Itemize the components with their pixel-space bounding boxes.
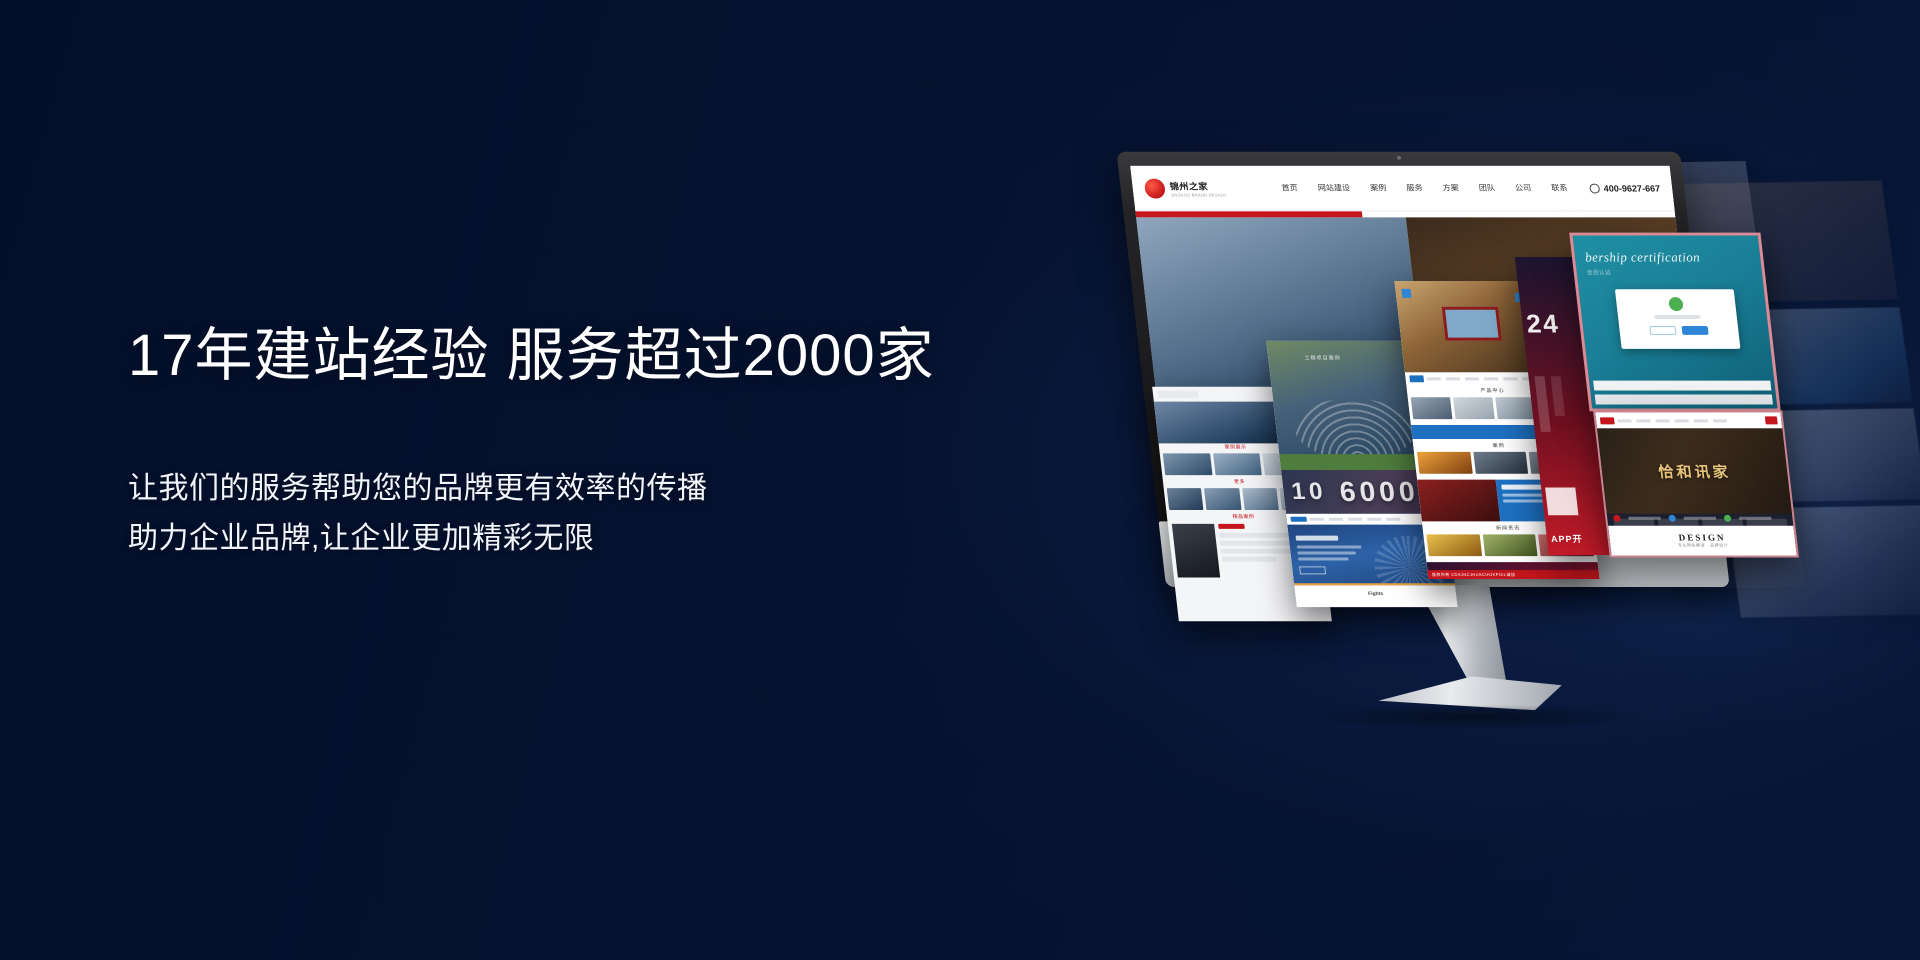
nav-item-5[interactable]: 团队 bbox=[1478, 183, 1495, 194]
nav-item-4[interactable]: 方案 bbox=[1442, 183, 1459, 194]
phone-value: 400-9627-667 bbox=[1603, 183, 1661, 193]
apple-logo-icon bbox=[1434, 543, 1454, 561]
website-body bbox=[1136, 217, 1709, 507]
page-title: 17年建站经验 服务超过2000家 bbox=[128, 320, 1008, 392]
nav-item-2[interactable]: 案例 bbox=[1370, 183, 1387, 194]
nav-item-3[interactable]: 服务 bbox=[1406, 183, 1423, 194]
nav-item-0[interactable]: 首页 bbox=[1281, 183, 1298, 194]
background-panel bbox=[1726, 505, 1920, 617]
hero-photo bbox=[1406, 217, 1709, 507]
website-nav[interactable]: 首页 网站建设 案例 服务 方案 团队 公司 联系 bbox=[1281, 183, 1568, 194]
monitor-bezel: 锦州之家 JINZHOU BRAND DESIGN 首页 网站建设 案例 服务 … bbox=[1116, 152, 1722, 522]
hero-photo bbox=[1136, 217, 1439, 507]
hero-banner: 17年建站经验 服务超过2000家 让我们的服务帮助您的品牌更有效率的传播 助力… bbox=[0, 0, 1920, 960]
imac-monitor: 锦州之家 JINZHOU BRAND DESIGN 首页 网站建设 案例 服务 … bbox=[1116, 152, 1743, 708]
background-panel bbox=[1712, 408, 1920, 503]
phone-number: 400-9627-667 bbox=[1589, 183, 1661, 193]
monitor-shadow bbox=[1300, 704, 1645, 730]
hero-subtitle: 让我们的服务帮助您的品牌更有效率的传播 助力企业品牌,让企业更加精彩无限 bbox=[128, 464, 1008, 564]
subtitle-line-2: 助力企业品牌,让企业更加精彩无限 bbox=[128, 514, 1008, 564]
brand-logo-text: 锦州之家 JINZHOU BRAND DESIGN bbox=[1169, 179, 1226, 197]
website-main: 锦州之家 JINZHOU BRAND DESIGN 首页 网站建设 案例 服务 … bbox=[1130, 166, 1708, 508]
phone-icon bbox=[1589, 183, 1600, 193]
nav-item-1[interactable]: 网站建设 bbox=[1317, 183, 1350, 194]
nav-item-7[interactable]: 联系 bbox=[1551, 183, 1568, 194]
website-header: 锦州之家 JINZHOU BRAND DESIGN 首页 网站建设 案例 服务 … bbox=[1130, 166, 1675, 212]
monitor-stand-neck bbox=[1409, 585, 1508, 694]
monitor-chin bbox=[1159, 521, 1730, 587]
hero-visual: 锦州之家 JINZHOU BRAND DESIGN 首页 网站建设 案例 服务 … bbox=[1150, 150, 1920, 790]
hero-copy: 17年建站经验 服务超过2000家 让我们的服务帮助您的品牌更有效率的传播 助力… bbox=[128, 320, 1008, 564]
nav-item-6[interactable]: 公司 bbox=[1514, 183, 1531, 194]
monitor-screen: 锦州之家 JINZHOU BRAND DESIGN 首页 网站建设 案例 服务 … bbox=[1130, 166, 1708, 508]
brand-tagline: JINZHOU BRAND DESIGN bbox=[1170, 192, 1226, 197]
subtitle-line-1: 让我们的服务帮助您的品牌更有效率的传播 bbox=[128, 464, 1008, 514]
brand-name: 锦州之家 bbox=[1169, 179, 1226, 192]
background-panel bbox=[1680, 180, 1898, 302]
background-panel bbox=[1698, 307, 1913, 406]
brand-logo-icon bbox=[1144, 178, 1166, 198]
